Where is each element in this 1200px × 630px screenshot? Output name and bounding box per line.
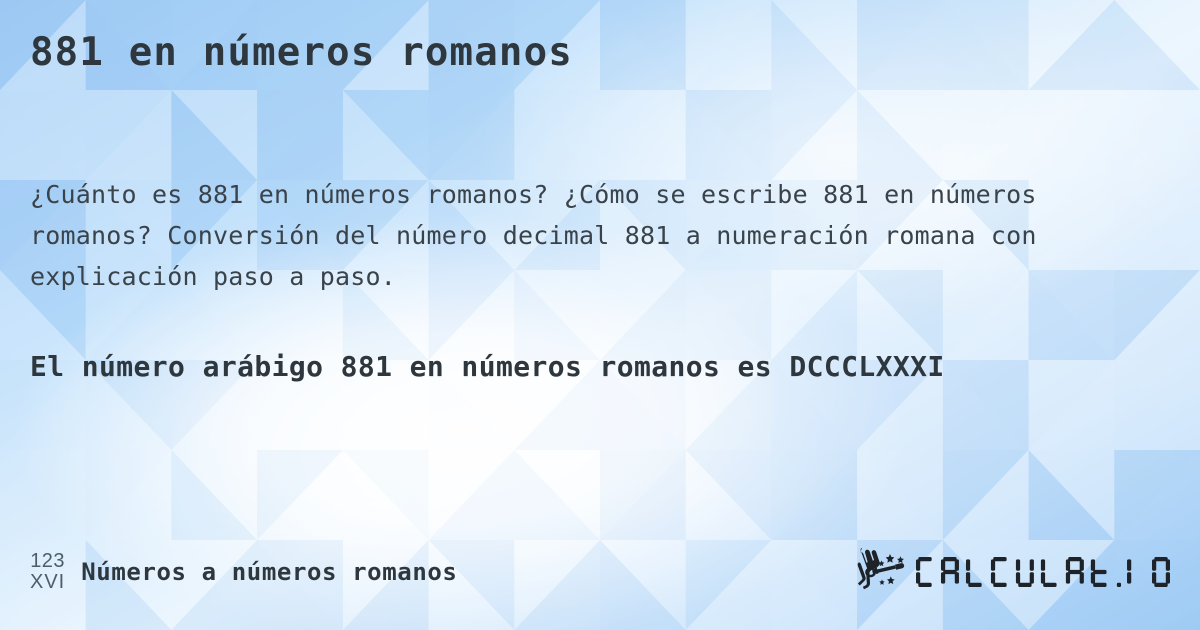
brand-mark-roman: XVI <box>30 572 65 593</box>
calculatio-logo <box>852 548 1170 596</box>
brand-mark-arabic: 123 <box>30 551 65 572</box>
footer-left-group: 123 XVI Números a números romanos <box>30 551 457 593</box>
footer: 123 XVI Números a números romanos <box>30 546 1170 598</box>
page-title: 881 en números romanos <box>30 30 573 75</box>
content-area: 881 en números romanos ¿Cuánto es 881 en… <box>0 0 1200 630</box>
magic-wand-hand-icon <box>852 548 910 596</box>
calculatio-wordmark <box>916 552 1170 592</box>
answer-statement: El número arábigo 881 en números romanos… <box>30 344 1120 389</box>
intro-paragraph: ¿Cuánto es 881 en números romanos? ¿Cómo… <box>30 174 1152 297</box>
footer-section-label: Números a números romanos <box>81 558 457 586</box>
numbers-to-roman-mark-icon: 123 XVI <box>30 551 65 593</box>
og-image-card: 881 en números romanos ¿Cuánto es 881 en… <box>0 0 1200 630</box>
